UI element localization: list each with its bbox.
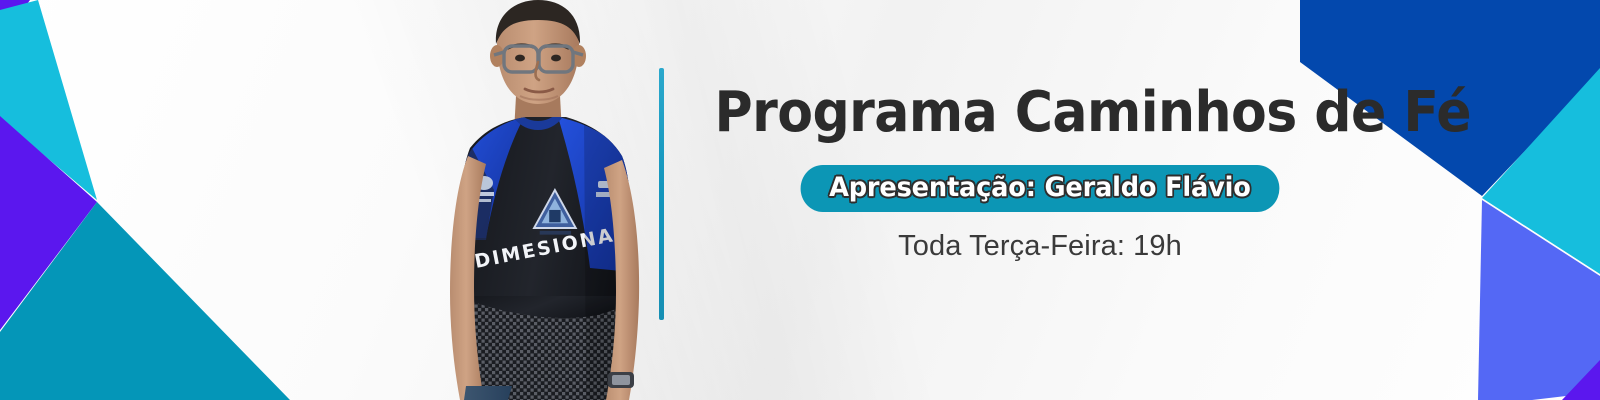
host-photo: DIMESIONAL	[408, 0, 668, 400]
vertical-divider	[659, 68, 664, 320]
jeans	[464, 386, 512, 400]
left-ear	[490, 45, 504, 67]
right-eye	[551, 55, 561, 62]
page-title: Programa Caminhos de Fé	[715, 84, 1366, 143]
wristwatch	[608, 372, 634, 388]
presenter-badge: Apresentação: Geraldo Flávio	[801, 165, 1280, 212]
presenter-badge-row: Apresentação: Geraldo Flávio	[690, 165, 1390, 212]
promo-banner: DIMESIONAL	[0, 0, 1600, 400]
schedule-text: Toda Terça-Feira: 19h	[690, 230, 1390, 263]
text-content: Programa Caminhos de Fé Apresentação: Ge…	[690, 84, 1390, 263]
host-portrait-illustration: DIMESIONAL	[408, 0, 668, 400]
left-eye	[515, 55, 525, 62]
